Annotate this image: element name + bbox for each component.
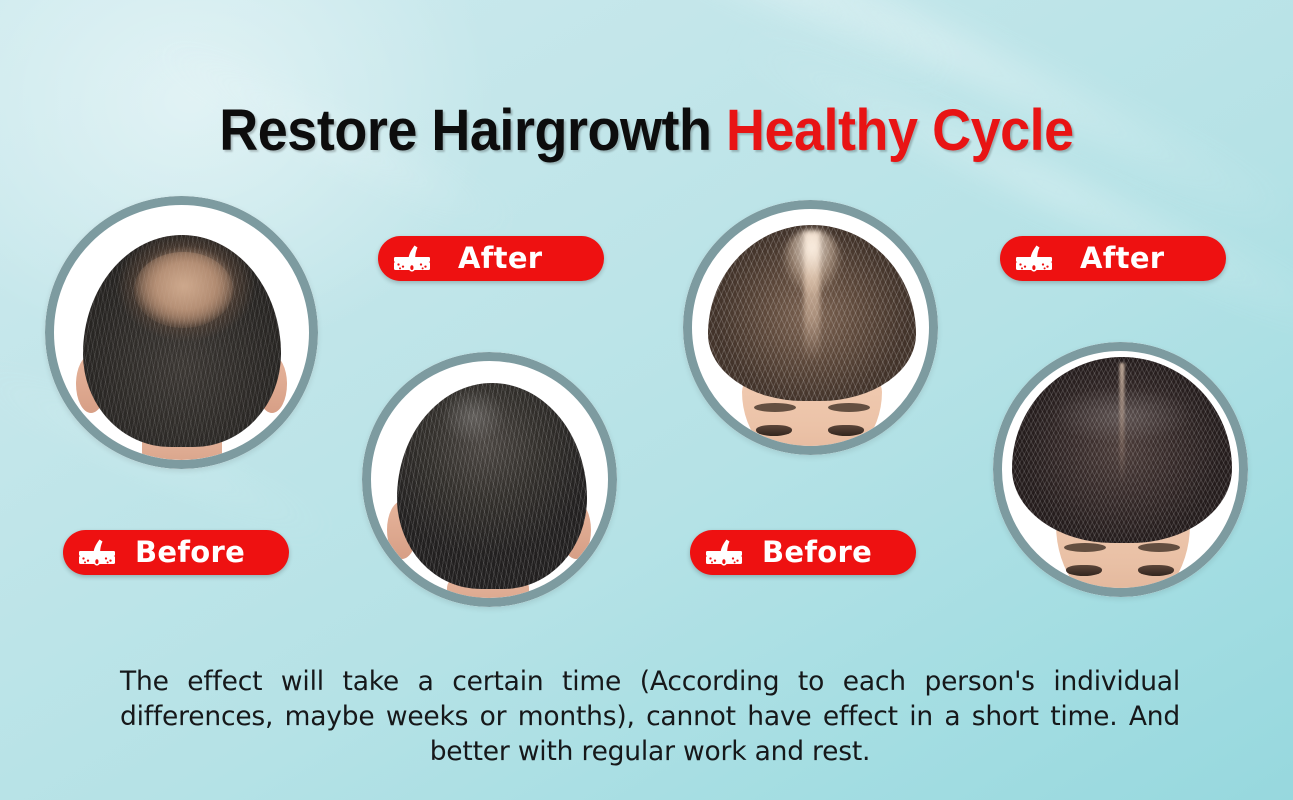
photo-female-before [692,209,929,446]
badge-label: After [1080,244,1164,273]
thinning-scalp-area [783,229,841,292]
head-full-hair [397,383,587,589]
badge-label: After [458,244,542,273]
disclaimer-note: The effect will take a certain time (Acc… [120,665,1180,770]
eye-right [828,425,864,436]
eye-right [1138,565,1174,576]
eye-left [756,425,792,436]
photo-circle-female-after [993,342,1248,597]
photo-inner-female-before [692,209,929,446]
hair-follicle-icon [77,538,117,568]
thinning-crown-area [134,252,233,328]
head-balding [83,235,281,447]
photo-circle-female-before [683,200,938,455]
photo-inner-female-after [1002,351,1239,588]
eye-left [1066,565,1102,576]
hair-follicle-icon [392,244,432,274]
badge-label: Before [762,538,872,567]
eyebrow-right [828,403,870,412]
page-title: Restore Hairgrowth Healthy Cycle [45,102,1247,160]
head-thick-hair [1012,357,1232,543]
photo-female-after [1002,351,1239,588]
photo-male-before [54,205,309,460]
head-thinning-part [708,225,916,401]
badge-label: Before [135,538,245,567]
hair-growth-promo-banner: Restore Hairgrowth Healthy Cycle [0,0,1293,800]
photo-inner-male-before [54,205,309,460]
badge-after-female: After [1000,236,1226,281]
photo-circle-male-before [45,196,318,469]
background-light-streak [404,0,977,106]
eyebrow-left [754,403,796,412]
title-black-text: Restore Hairgrowth [219,98,711,163]
note-line-3: better with regular work and rest. [120,735,1180,770]
badge-before-male: Before [63,530,289,575]
note-line-2: differences, maybe weeks or months), can… [120,700,1180,735]
photo-circle-male-after [362,352,617,607]
hair-follicle-icon [1014,244,1054,274]
photo-male-after [371,361,608,598]
eyebrow-left [1064,543,1106,552]
hair-follicle-icon [704,538,744,568]
note-line-1: The effect will take a certain time (Acc… [120,665,1180,700]
hair-strands [397,383,587,589]
photo-inner-male-after [371,361,608,598]
badge-before-female: Before [690,530,916,575]
badge-after-male: After [378,236,604,281]
part-line [1120,363,1125,486]
title-red-text: Healthy Cycle [726,98,1074,163]
eyebrow-right [1138,543,1180,552]
